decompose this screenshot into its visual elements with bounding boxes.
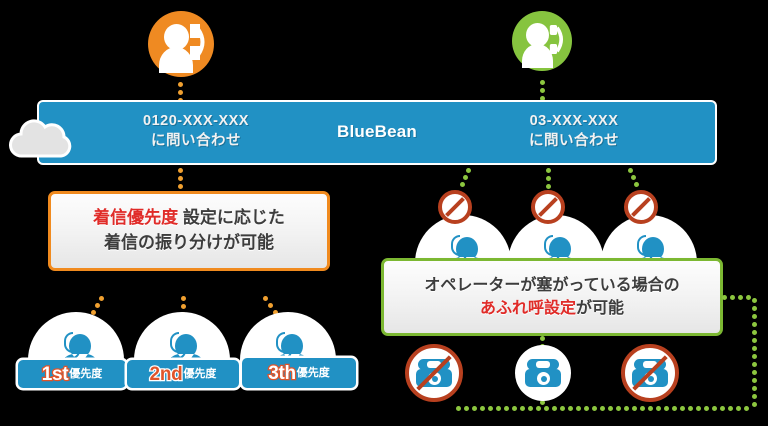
- overflow-line1: オペレーターが塞がっている場合の: [424, 277, 679, 294]
- overflow-highlight: あふれ呼設定: [480, 300, 576, 317]
- bluebean-banner: 0120-XXX-XXX に問い合わせ BlueBean 03-XXX-XXX …: [39, 102, 715, 163]
- operator-available-2: [134, 312, 230, 364]
- phone-available: [515, 345, 571, 401]
- priority-rank-1: 1st: [42, 365, 69, 384]
- operator-available-1: [28, 312, 124, 364]
- caller-orange-avatar: [148, 11, 214, 77]
- phone-handset-icon: [188, 24, 210, 60]
- cloud-icon: [8, 112, 72, 158]
- priority-rank-2: 2nd: [150, 365, 183, 384]
- banner-right-number: 03-XXX-XXX に問い合わせ: [479, 111, 669, 151]
- priority-highlight: 着信優先度: [93, 208, 178, 227]
- diagram-canvas: 0120-XXX-XXX に問い合わせ BlueBean 03-XXX-XXX …: [0, 0, 768, 426]
- priority-badge-1[interactable]: 1st 優先度: [18, 360, 126, 388]
- priority-badge-3[interactable]: 3th 優先度: [242, 358, 356, 388]
- brand-name: BlueBean: [307, 122, 447, 142]
- phone-blocked-2: [622, 345, 678, 401]
- no-entry-icon: [621, 344, 679, 402]
- no-entry-icon: [438, 190, 472, 224]
- overflow-callout-text: オペレーターが塞がっている場合の あふれ呼設定が可能: [424, 274, 679, 320]
- priority-badge-2[interactable]: 2nd 優先度: [127, 360, 239, 388]
- no-entry-icon: [531, 190, 565, 224]
- overflow-line2-rest: が可能: [576, 300, 624, 317]
- left-number-text: 0120-XXX-XXX: [143, 113, 249, 129]
- priority-callout-text: 着信優先度 設定に応じた 着信の振り分けが可能: [93, 206, 285, 255]
- priority-suffix-2: 優先度: [183, 369, 216, 380]
- priority-suffix-1: 優先度: [69, 369, 102, 380]
- no-entry-icon: [405, 344, 463, 402]
- left-number-sub: に問い合わせ: [151, 133, 241, 149]
- no-entry-icon: [624, 190, 658, 224]
- right-number-text: 03-XXX-XXX: [530, 113, 619, 129]
- phone-handset-icon: [548, 23, 568, 56]
- operator-available-3: [240, 312, 336, 364]
- priority-line2: 着信の振り分けが可能: [104, 233, 274, 252]
- priority-callout-box: 着信優先度 設定に応じた 着信の振り分けが可能: [48, 191, 330, 271]
- right-number-sub: に問い合わせ: [529, 133, 619, 149]
- banner-left-number: 0120-XXX-XXX に問い合わせ: [101, 111, 291, 151]
- caller-green-avatar: [512, 11, 572, 71]
- priority-rank-3: 3th: [268, 364, 296, 383]
- priority-line1-rest: 設定に応じた: [178, 208, 285, 227]
- overflow-callout-box: オペレーターが塞がっている場合の あふれ呼設定が可能: [381, 258, 723, 336]
- telephone-icon: [525, 359, 561, 387]
- phone-blocked-1: [406, 345, 462, 401]
- priority-suffix-3: 優先度: [297, 368, 330, 379]
